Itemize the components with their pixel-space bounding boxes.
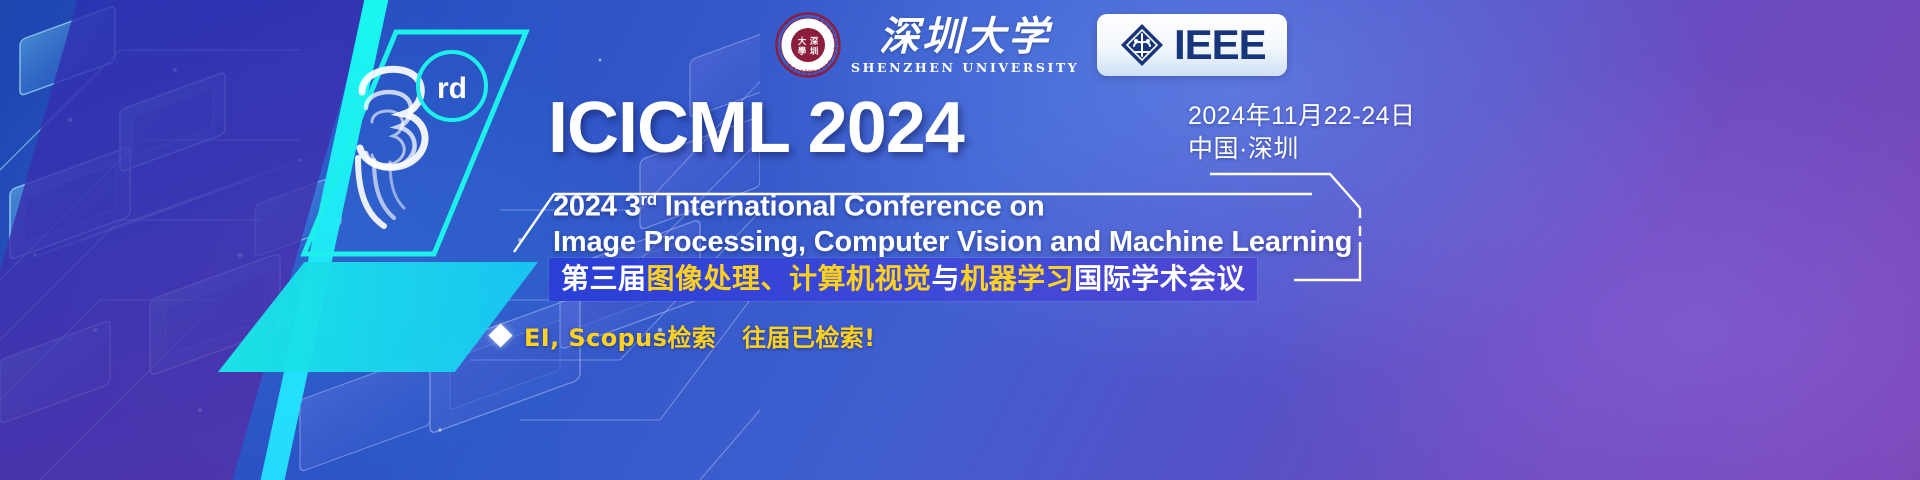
shenzhen-university-logo: SHENZHEN UNIVERSITY 大深 學圳 1983 深圳大学 SHEN… xyxy=(775,12,1079,78)
subtitle-cn-part1: 第三届 xyxy=(561,262,647,295)
svg-text:圳: 圳 xyxy=(810,46,818,56)
subtitle-en-line1-ordinal: rd xyxy=(641,190,657,209)
edition-emblem: rd 3 rd xyxy=(300,28,530,258)
event-date-block: 2024年11月22-24日 中国·深圳 xyxy=(1188,100,1416,165)
szu-name-en: SHENZHEN UNIVERSITY xyxy=(851,60,1079,75)
svg-text:學: 學 xyxy=(798,46,807,56)
subtitle-en-line1-rest: International Conference on xyxy=(657,191,1045,223)
event-date: 2024年11月22-24日 xyxy=(1188,100,1416,133)
szu-seal-icon: SHENZHEN UNIVERSITY 大深 學圳 1983 xyxy=(775,12,841,78)
event-location: 中国·深圳 xyxy=(1188,133,1416,166)
subtitle-cn: 第三届图像处理、计算机视觉与机器学习国际学术会议 xyxy=(549,258,1257,301)
indexing-text-group: EI, Scopus检索往届已检索! xyxy=(524,318,876,353)
subtitle-cn-part6: 国际学术会议 xyxy=(1074,262,1245,295)
subtitle-en-line1-prefix: 2024 3 xyxy=(553,191,641,223)
subtitle-en-line2: Image Processing, Computer Vision and Ma… xyxy=(553,228,1352,257)
svg-text:大: 大 xyxy=(798,36,807,46)
edition-emblem-graphic: rd xyxy=(300,28,530,258)
subtitle-cn-part2: 图像处理、 xyxy=(647,262,790,295)
indexing-note: 往届已检索! xyxy=(742,324,875,352)
subtitle-cn-part3: 计算机视觉 xyxy=(789,262,932,295)
page-title: ICICML 2024 xyxy=(548,92,964,164)
diamond-bullet-icon xyxy=(488,323,512,347)
subtitle-cn-part4: 与 xyxy=(932,262,961,295)
indexing-text: EI, Scopus检索 xyxy=(524,324,716,352)
logo-row: SHENZHEN UNIVERSITY 大深 學圳 1983 深圳大学 SHEN… xyxy=(775,12,1287,78)
indexing-row: EI, Scopus检索往届已检索! xyxy=(492,318,876,353)
svg-text:1983: 1983 xyxy=(800,69,815,75)
ieee-wordmark: IEEE xyxy=(1174,24,1266,66)
szu-wordmark: 深圳大学 SHENZHEN UNIVERSITY xyxy=(851,16,1079,75)
szu-name-cn: 深圳大学 xyxy=(879,16,1051,58)
svg-text:深: 深 xyxy=(810,36,819,46)
ieee-diamond-icon xyxy=(1119,22,1165,68)
ieee-logo: IEEE xyxy=(1097,14,1287,76)
subtitle-cn-part5: 机器学习 xyxy=(960,262,1074,295)
conference-banner: rd 3 rd SHENZHEN UNIVERSITY 大深 學圳 xyxy=(0,0,1920,480)
edition-ordinal-text: rd xyxy=(437,72,467,105)
subtitle-en-line1: 2024 3rd International Conference on xyxy=(553,192,1044,222)
